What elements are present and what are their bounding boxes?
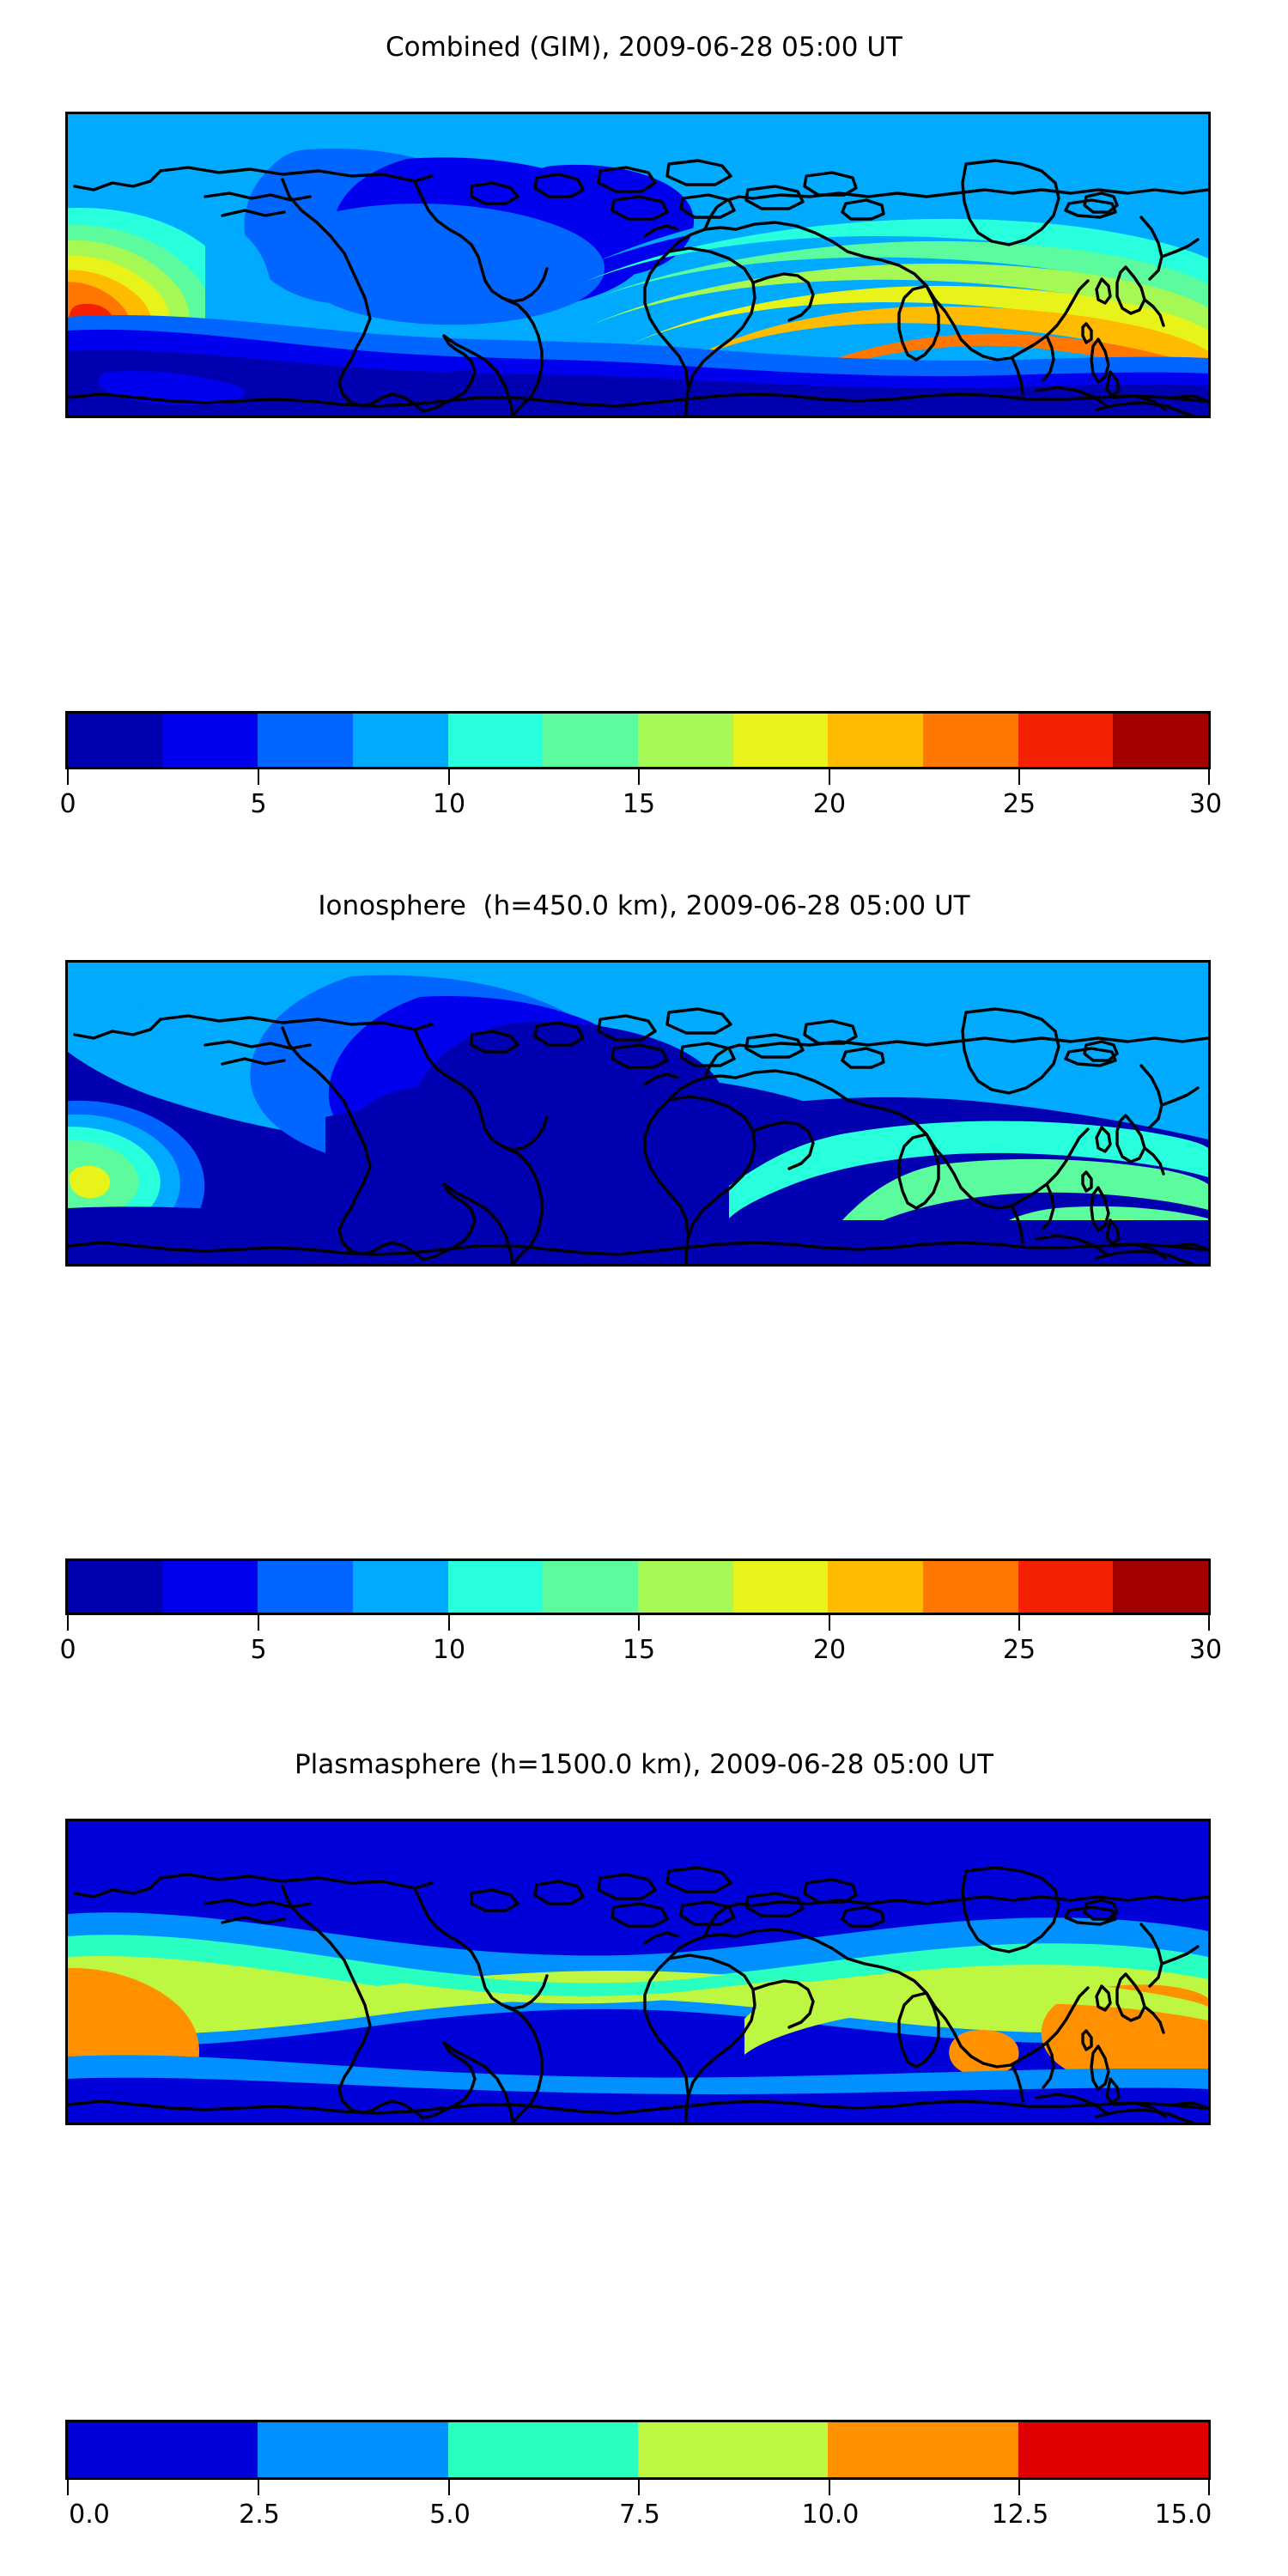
tick-mark — [1208, 769, 1210, 785]
map-canvas-ionosphere — [68, 963, 1208, 1264]
panel-title-plasmasphere: Plasmasphere (h=1500.0 km), 2009-06-28 0… — [0, 1752, 1288, 1778]
tick-label: 15 — [623, 1637, 655, 1663]
tick-mark — [829, 1615, 830, 1631]
panel-title-ionosphere: Ionosphere (h=450.0 km), 2009-06-28 05:0… — [0, 893, 1288, 920]
tick-label: 30 — [1189, 792, 1222, 817]
tick-mark — [67, 2480, 69, 2495]
tick-mark — [829, 2480, 830, 2495]
figure-root: Combined (GIM), 2009-06-28 05:00 UT — [0, 0, 1288, 2576]
tick-label: 0 — [59, 792, 76, 817]
map-plasmasphere — [65, 1819, 1211, 2125]
tick-mark — [448, 769, 450, 785]
tick-mark — [1018, 769, 1020, 785]
map-combined-gim — [65, 112, 1211, 418]
tick-label: 20 — [813, 792, 846, 817]
colorbar-plasmasphere: 0.0 2.5 5.0 7.5 10.0 12.5 15.0 — [65, 2420, 1211, 2557]
tick-mark — [1208, 2480, 1210, 2495]
tick-mark — [258, 1615, 259, 1631]
tick-label: 0.0 — [69, 2502, 110, 2528]
tick-mark — [67, 1615, 69, 1631]
tick-mark — [829, 769, 830, 785]
tick-mark — [1208, 1615, 1210, 1631]
tick-mark — [1018, 1615, 1020, 1631]
colorbar-plasmasphere-ticks: 0.0 2.5 5.0 7.5 10.0 12.5 15.0 — [65, 2420, 1211, 2557]
colorbar-ionosphere-ticks: 0 5 10 15 20 25 30 — [65, 1558, 1211, 1696]
tick-label: 10 — [433, 792, 465, 817]
tick-label: 2.5 — [239, 2502, 280, 2528]
tick-label: 15.0 — [1155, 2502, 1212, 2528]
tick-label: 25 — [1003, 1637, 1036, 1663]
tick-label: 7.5 — [619, 2502, 660, 2528]
tick-label: 25 — [1003, 792, 1036, 817]
tick-label: 5 — [250, 1637, 266, 1663]
tick-mark — [1018, 2480, 1020, 2495]
tick-mark — [258, 2480, 259, 2495]
tick-mark — [638, 2480, 640, 2495]
colorbar-ionosphere: 0 5 10 15 20 25 30 — [65, 1558, 1211, 1696]
tick-label: 5 — [250, 792, 266, 817]
tick-mark — [448, 2480, 450, 2495]
tick-mark — [258, 769, 259, 785]
tick-mark — [638, 1615, 640, 1631]
tick-label: 5.0 — [429, 2502, 471, 2528]
colorbar-combined-ticks: 0 5 10 15 20 25 30 — [65, 711, 1211, 848]
map-canvas-combined — [68, 114, 1208, 416]
panel-title-combined: Combined (GIM), 2009-06-28 05:00 UT — [0, 34, 1288, 61]
map-canvas-plasmasphere — [68, 1821, 1208, 2123]
tick-mark — [67, 769, 69, 785]
tick-label: 10 — [433, 1637, 465, 1663]
map-ionosphere — [65, 960, 1211, 1267]
tick-label: 10.0 — [802, 2502, 860, 2528]
tick-label: 0 — [59, 1637, 76, 1663]
tick-mark — [448, 1615, 450, 1631]
tick-label: 30 — [1189, 1637, 1222, 1663]
tick-label: 20 — [813, 1637, 846, 1663]
colorbar-combined: 0 5 10 15 20 25 30 — [65, 711, 1211, 848]
tick-label: 15 — [623, 792, 655, 817]
tick-mark — [638, 769, 640, 785]
tick-label: 12.5 — [992, 2502, 1049, 2528]
